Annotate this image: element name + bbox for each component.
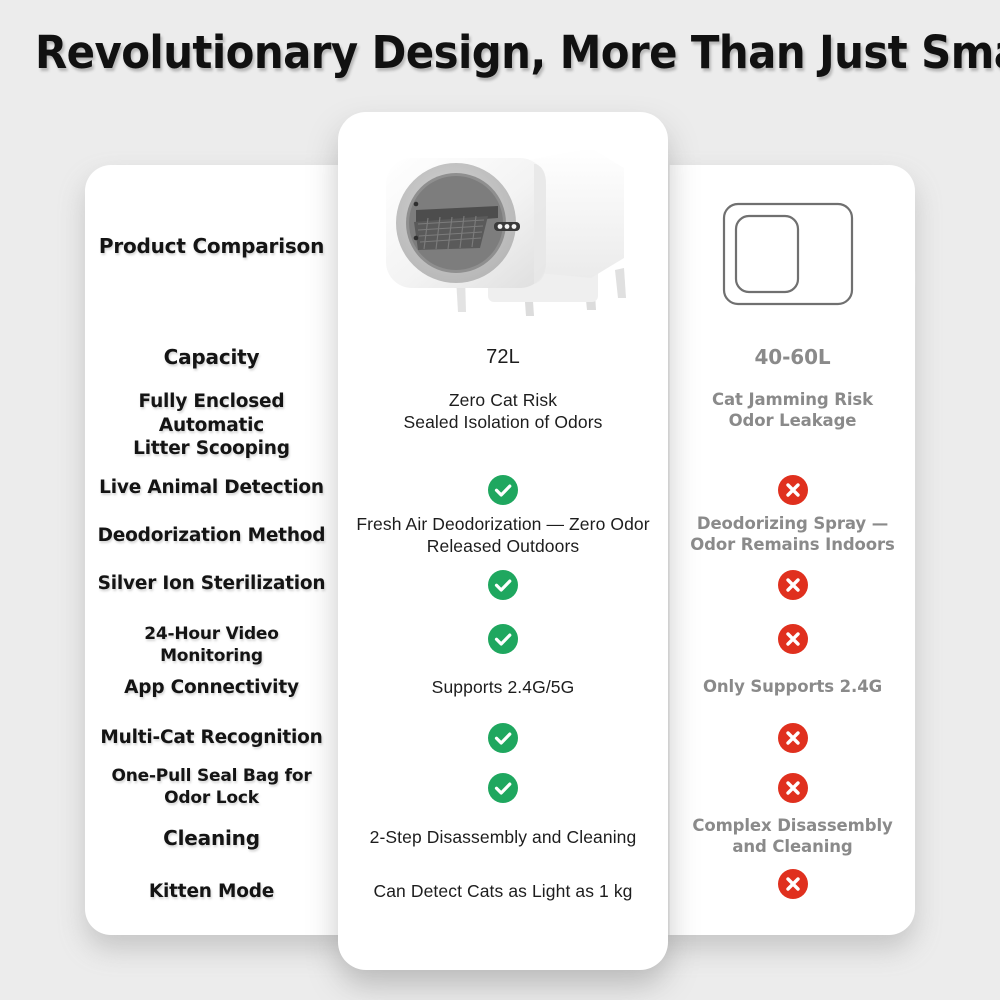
feature-label: Capacity: [85, 345, 338, 371]
cross-icon: [670, 723, 915, 753]
feature-label: One-Pull Seal Bag forOdor Lock: [85, 766, 338, 810]
cross-icon: [670, 773, 915, 803]
featured-value: Zero Cat RiskSealed Isolation of Odors: [338, 389, 668, 434]
comparison-infographic: SMARTE 88 18 Revolutionary Design, More …: [0, 0, 1000, 1000]
cross-icon: [670, 570, 915, 600]
featured-value: 2-Step Disassembly and Cleaning: [338, 826, 668, 848]
feature-label: 24-Hour Video Monitoring: [85, 624, 338, 668]
feature-label: Deodorization Method: [85, 524, 338, 548]
feature-label: Multi-Cat Recognition: [85, 726, 338, 750]
competitor-value: 40-60L: [670, 345, 915, 371]
featured-value: Fresh Air Deodorization — Zero OdorRelea…: [338, 513, 668, 558]
cross-icon: [670, 869, 915, 899]
feature-label: Kitten Mode: [85, 880, 338, 904]
featured-value: Can Detect Cats as Light as 1 kg: [338, 880, 668, 902]
left-column-header: Product Comparison: [85, 234, 338, 260]
feature-label: Silver Ion Sterilization: [85, 572, 338, 596]
check-icon: [338, 773, 668, 803]
feature-label: Fully Enclosed AutomaticLitter Scooping: [85, 390, 338, 461]
cross-icon: [670, 475, 915, 505]
competitor-value: Deodorizing Spray —Odor Remains Indoors: [670, 513, 915, 555]
competitor-value: Only Supports 2.4G: [670, 676, 915, 697]
cross-icon: [670, 624, 915, 654]
page-title: Revolutionary Design, More Than Just Sma…: [35, 26, 965, 79]
check-icon: [338, 723, 668, 753]
competitor-value: Cat Jamming RiskOdor Leakage: [670, 389, 915, 431]
check-icon: [338, 475, 668, 505]
feature-label: Cleaning: [85, 826, 338, 852]
check-icon: [338, 570, 668, 600]
check-icon: [338, 624, 668, 654]
competitor-value: Complex Disassemblyand Cleaning: [670, 815, 915, 857]
competitor-product-image: [718, 194, 858, 314]
featured-product-image: [338, 130, 668, 320]
feature-label: Live Animal Detection: [85, 476, 338, 500]
featured-value: 72L: [338, 345, 668, 371]
feature-label: App Connectivity: [85, 676, 338, 700]
featured-value: Supports 2.4G/5G: [338, 676, 668, 698]
